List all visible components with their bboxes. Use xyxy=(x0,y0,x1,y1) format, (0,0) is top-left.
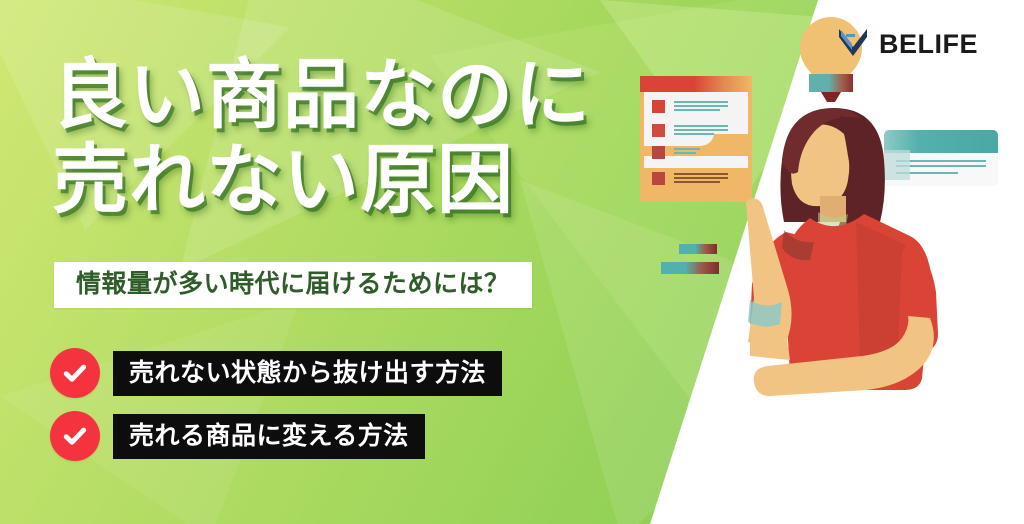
brand-name: BELIFE xyxy=(879,31,978,58)
chevron-v-logo-icon xyxy=(836,26,870,62)
headline-line-1: 良い商品なのに xyxy=(52,50,591,139)
promo-banner: BELIFE 良い商品なのに 売れない原因 情報量が多い時代に届けるためには？ … xyxy=(0,0,1024,524)
progress-bar-large xyxy=(661,262,719,274)
brand-logo: BELIFE xyxy=(836,26,978,62)
subtitle-text: 情報量が多い時代に届けるためには？ xyxy=(76,269,510,298)
check-circle-icon xyxy=(50,411,100,461)
headline-line-2: 売れない原因 xyxy=(52,137,591,222)
list-item: 売れない状態から抜け出す方法 xyxy=(50,348,502,398)
benefit-label: 売れない状態から抜け出す方法 xyxy=(129,358,486,387)
benefit-label: 売れる商品に変える方法 xyxy=(129,421,409,450)
subtitle-bar: 情報量が多い時代に届けるためには？ xyxy=(54,262,532,308)
checklist-card xyxy=(640,76,752,202)
benefit-list: 売れない状態から抜け出す方法 売れる商品に変える方法 xyxy=(50,348,502,474)
benefit-label-bar: 売れない状態から抜け出す方法 xyxy=(113,351,502,396)
progress-bar-small xyxy=(679,244,717,254)
benefit-label-bar: 売れる商品に変える方法 xyxy=(113,414,425,459)
list-item: 売れる商品に変える方法 xyxy=(50,411,502,461)
page-title: 良い商品なのに 売れない原因 xyxy=(52,52,591,222)
note-card xyxy=(884,130,998,186)
woman-thinking-illustration xyxy=(624,0,1024,524)
check-circle-icon xyxy=(50,348,100,398)
